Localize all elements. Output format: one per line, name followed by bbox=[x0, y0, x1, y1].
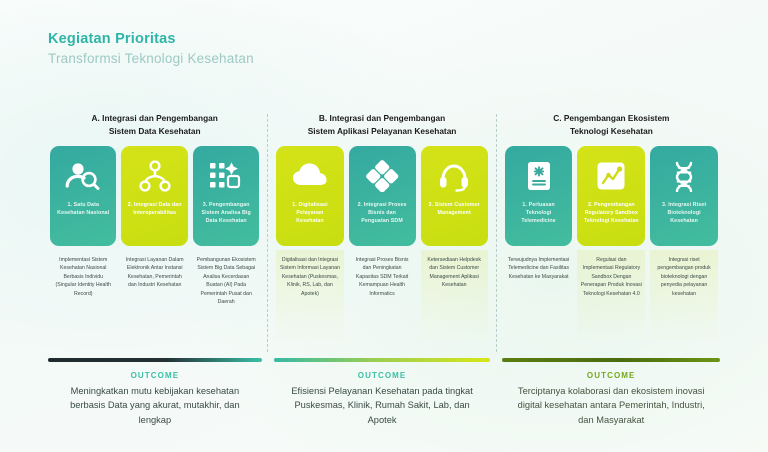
desc-b1: Digitalisasi dan Integrasi Sistem Inform… bbox=[276, 250, 343, 340]
user-search-icon bbox=[63, 158, 103, 194]
dna-icon bbox=[664, 158, 704, 194]
innovation-chart-icon bbox=[591, 158, 631, 194]
card-a2[interactable]: 2. Integrasi Data dan Interoperabilitas bbox=[121, 146, 187, 246]
desc-a2: Integrasi Layanan Dalam Elektronik Antar… bbox=[121, 250, 187, 340]
outcome-a-text: Meningkatkan mutu kebijakan kesehatan be… bbox=[48, 384, 262, 427]
card-b1-label: 1. Digitalisasi Pelayanan Kesehatan bbox=[282, 202, 337, 226]
infographic-frame: Kegiatan Prioritas Transformsi Teknologi… bbox=[0, 0, 768, 452]
group-b-cards: 1. Digitalisasi Pelayanan Kesehatan 2. I… bbox=[274, 146, 489, 246]
outcome-b-text: Efisiensi Pelayanan Kesehatan pada tingk… bbox=[274, 384, 490, 427]
medical-document-icon bbox=[519, 158, 559, 194]
network-node-icon bbox=[135, 158, 175, 194]
outcome-c-label: OUTCOME bbox=[587, 371, 636, 380]
desc-a1: Implementasi Sistem Kesehatan Nasional B… bbox=[50, 250, 116, 340]
desc-c1: Terwujudnya Implementasi Telemedicine da… bbox=[505, 250, 573, 340]
card-b3-label: 3. Sistem Customer Management bbox=[427, 202, 482, 218]
group-c: C. Pengembangan Ekosistem Teknologi Kese… bbox=[503, 112, 720, 340]
desc-b3: Ketersediaan Helpdesk dan Sistem Custome… bbox=[421, 250, 488, 340]
outcome-b-label: OUTCOME bbox=[358, 371, 407, 380]
group-a-heading-line2: Sistem Data Kesehatan bbox=[109, 126, 201, 136]
desc-c2: Regulasi dan Implementasi Regulatory San… bbox=[577, 250, 645, 340]
outcome-c: OUTCOME Terciptanya kolaborasi dan ekosi… bbox=[502, 358, 720, 427]
card-c2[interactable]: 2. Pengembangan Regulatory Sandbox Tekno… bbox=[577, 146, 645, 246]
cloud-icon bbox=[290, 158, 330, 194]
outcome-b-bar bbox=[274, 358, 490, 362]
group-a-heading-line1: A. Integrasi dan Pengembangan bbox=[92, 113, 218, 123]
card-b3[interactable]: 3. Sistem Customer Management bbox=[421, 146, 488, 246]
page-subtitle: Transformsi Teknologi Kesehatan bbox=[48, 50, 254, 68]
card-a1-label: 1. Satu Data Kesehatan Nasional bbox=[56, 202, 110, 218]
group-c-cards: 1. Perluasan Teknologi Telemedicine 2. P… bbox=[503, 146, 720, 246]
desc-a3: Pembangunan Ekosistem Sistem Big Data Se… bbox=[193, 250, 259, 340]
card-b2[interactable]: 2. Integrasi Proses Bisnis dan Penguatan… bbox=[349, 146, 416, 246]
card-b1[interactable]: 1. Digitalisasi Pelayanan Kesehatan bbox=[276, 146, 343, 246]
group-c-descriptions: Terwujudnya Implementasi Telemedicine da… bbox=[503, 250, 720, 340]
card-a2-label: 2. Integrasi Data dan Interoperabilitas bbox=[127, 202, 181, 218]
group-b: B. Integrasi dan Pengembangan Sistem Apl… bbox=[274, 112, 489, 340]
data-grid-icon bbox=[206, 158, 246, 194]
group-b-heading-line1: B. Integrasi dan Pengembangan bbox=[319, 113, 445, 123]
group-a-heading: A. Integrasi dan Pengembangan Sistem Dat… bbox=[48, 112, 261, 146]
outcome-a: OUTCOME Meningkatkan mutu kebijakan kese… bbox=[48, 358, 262, 427]
card-c3-label: 3. Integrasi Riset Bioteknologi Kesehata… bbox=[656, 202, 712, 226]
group-a-descriptions: Implementasi Sistem Kesehatan Nasional B… bbox=[48, 250, 261, 340]
groups-container: A. Integrasi dan Pengembangan Sistem Dat… bbox=[48, 112, 720, 352]
outcome-a-bar bbox=[48, 358, 262, 362]
page-title: Kegiatan Prioritas bbox=[48, 30, 254, 48]
group-b-heading-line2: Sistem Aplikasi Pelayanan Kesehatan bbox=[308, 126, 457, 136]
card-b2-label: 2. Integrasi Proses Bisnis dan Penguatan… bbox=[355, 202, 410, 226]
group-b-descriptions: Digitalisasi dan Integrasi Sistem Inform… bbox=[274, 250, 489, 340]
outcome-c-text: Terciptanya kolaborasi dan ekosistem ino… bbox=[502, 384, 720, 427]
divider-b-c bbox=[496, 114, 497, 352]
group-c-heading-line2: Teknologi Kesehatan bbox=[570, 126, 653, 136]
card-a3-label: 3. Pengembangan Sistem Analisa Big Data … bbox=[199, 202, 253, 226]
card-c3[interactable]: 3. Integrasi Riset Bioteknologi Kesehata… bbox=[650, 146, 718, 246]
card-c1[interactable]: 1. Perluasan Teknologi Telemedicine bbox=[505, 146, 573, 246]
desc-b2: Integrasi Proses Bisnis dan Peningkatan … bbox=[349, 250, 416, 340]
puzzle-diamond-icon bbox=[362, 158, 402, 194]
group-a: A. Integrasi dan Pengembangan Sistem Dat… bbox=[48, 112, 261, 340]
group-a-cards: 1. Satu Data Kesehatan Nasional 2. Integ… bbox=[48, 146, 261, 246]
group-b-heading: B. Integrasi dan Pengembangan Sistem Apl… bbox=[274, 112, 489, 146]
outcome-c-bar bbox=[502, 358, 720, 362]
group-c-heading: C. Pengembangan Ekosistem Teknologi Kese… bbox=[503, 112, 720, 146]
card-a3[interactable]: 3. Pengembangan Sistem Analisa Big Data … bbox=[193, 146, 259, 246]
card-c1-label: 1. Perluasan Teknologi Telemedicine bbox=[511, 202, 567, 226]
desc-c3: Integrasi riset pengembangan produk biot… bbox=[650, 250, 718, 340]
card-c2-label: 2. Pengembangan Regulatory Sandbox Tekno… bbox=[583, 202, 639, 226]
headset-support-icon bbox=[434, 158, 474, 194]
title-block: Kegiatan Prioritas Transformsi Teknologi… bbox=[48, 30, 254, 68]
card-a1[interactable]: 1. Satu Data Kesehatan Nasional bbox=[50, 146, 116, 246]
divider-a-b bbox=[267, 114, 268, 352]
group-c-heading-line1: C. Pengembangan Ekosistem bbox=[553, 113, 669, 123]
outcomes-container: OUTCOME Meningkatkan mutu kebijakan kese… bbox=[48, 358, 720, 427]
outcome-b: OUTCOME Efisiensi Pelayanan Kesehatan pa… bbox=[274, 358, 490, 427]
outcome-a-label: OUTCOME bbox=[131, 371, 180, 380]
